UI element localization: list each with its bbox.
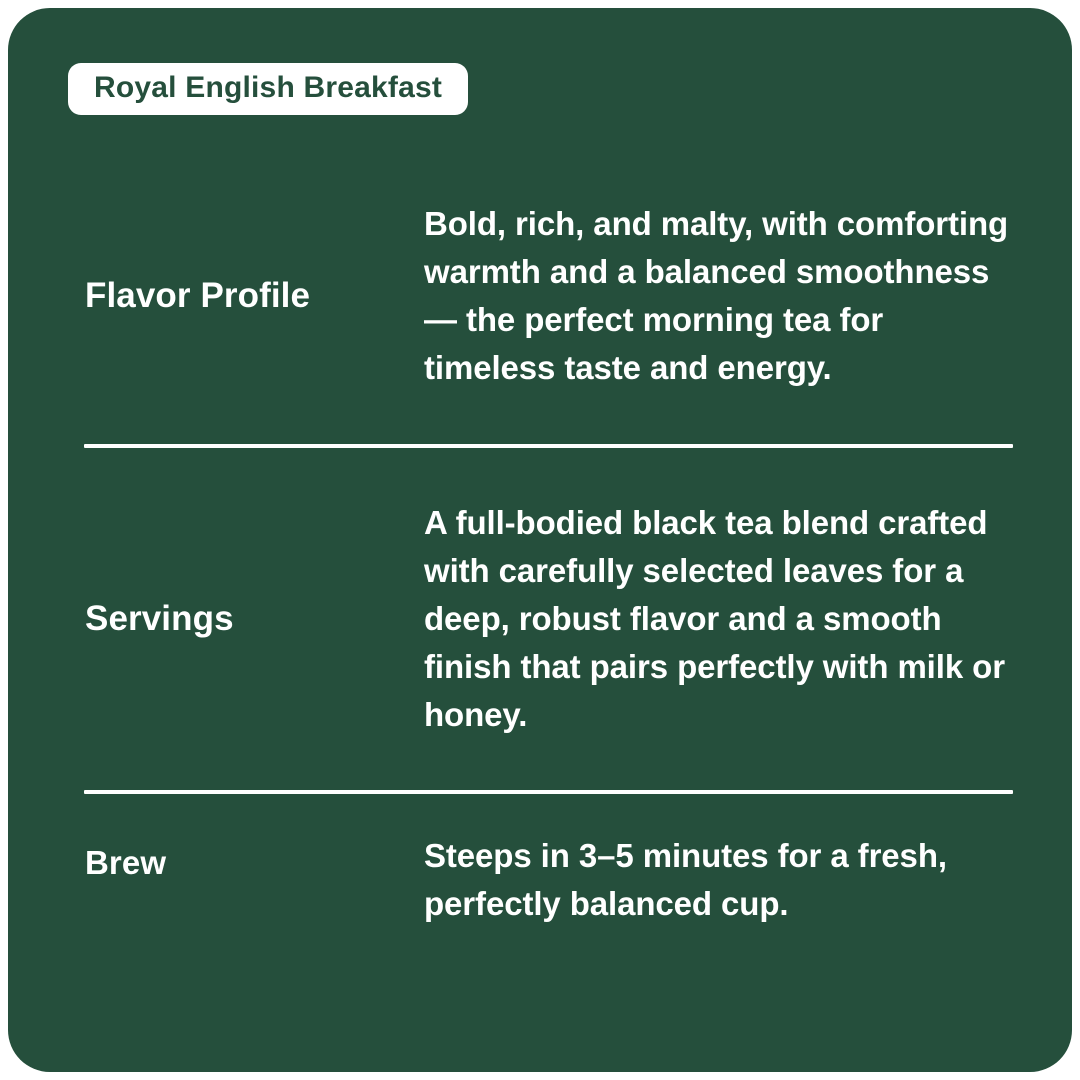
screenshot-stage: Royal English Breakfast Flavor Profile B… [0, 0, 1080, 1080]
product-badge-container: Royal English Breakfast [68, 63, 468, 115]
spec-label-servings: Servings [77, 599, 424, 639]
spec-row-servings: Servings A full-bodied black tea blend c… [77, 448, 1014, 790]
spec-value-flavor-profile: Bold, rich, and malty, with comforting w… [424, 200, 1014, 392]
spec-label-brew: Brew [77, 820, 424, 882]
product-info-card: Royal English Breakfast Flavor Profile B… [8, 8, 1072, 1072]
spec-value-servings: A full-bodied black tea blend crafted wi… [424, 499, 1014, 739]
spec-table: Flavor Profile Bold, rich, and malty, wi… [77, 148, 1014, 954]
spec-row-brew: Brew Steeps in 3–5 minutes for a fresh, … [77, 794, 1014, 954]
spec-row-flavor-profile: Flavor Profile Bold, rich, and malty, wi… [77, 148, 1014, 444]
product-name-badge: Royal English Breakfast [68, 63, 468, 115]
spec-value-brew: Steeps in 3–5 minutes for a fresh, perfe… [424, 820, 1014, 928]
spec-label-flavor-profile: Flavor Profile [77, 276, 424, 316]
